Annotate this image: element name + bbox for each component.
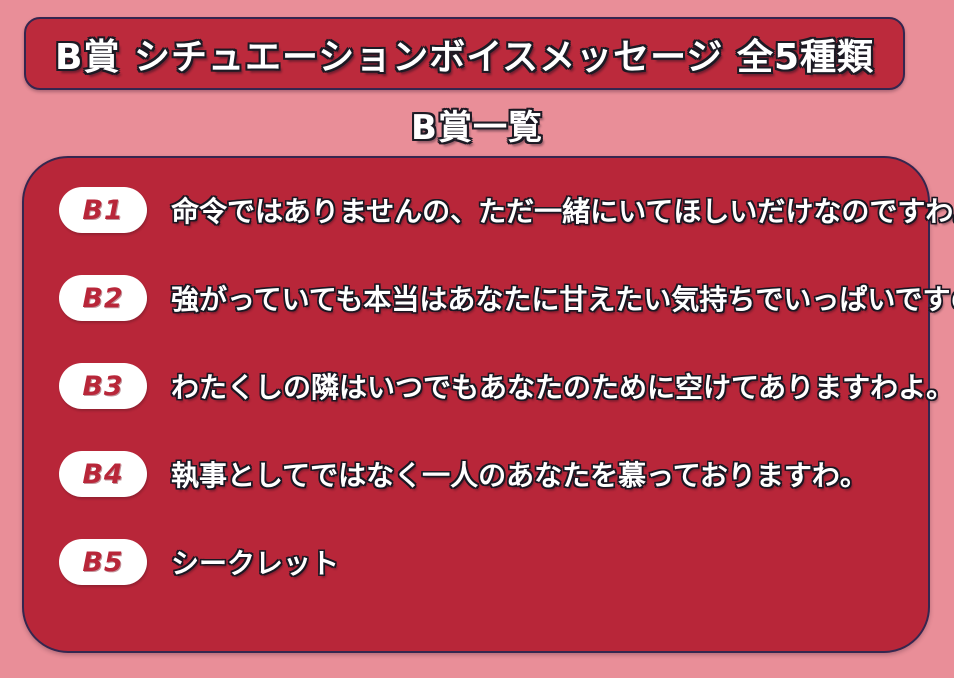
prize-badge-label: B4 [82,459,123,490]
prize-badge: B1 [59,187,147,233]
header-title: B賞 シチュエーションボイスメッセージ 全5種類 [55,28,874,80]
prize-row: B1 命令ではありませんの、ただ一緒にいてほしいだけなのですわ。 [59,186,906,234]
subtitle-text: B賞一覧 [411,100,543,149]
prize-message: シークレット [171,542,906,582]
prize-list-panel: B1 命令ではありませんの、ただ一緒にいてほしいだけなのですわ。 B2 強がって… [22,156,930,653]
prize-list-poster: B賞 シチュエーションボイスメッセージ 全5種類 B賞一覧 B1 命令ではありま… [0,0,954,678]
prize-row: B3 わたくしの隣はいつでもあなたのために空けてありますわよ。 [59,362,906,410]
prize-message: わたくしの隣はいつでもあなたのために空けてありますわよ。 [171,366,954,406]
prize-row: B5 シークレット [59,538,906,586]
prize-badge-label: B2 [82,283,123,314]
prize-message: 執事としてではなく一人のあなたを慕っておりますわ。 [171,454,906,494]
prize-message: 命令ではありませんの、ただ一緒にいてほしいだけなのですわ。 [171,190,954,230]
prize-message: 強がっていても本当はあなたに甘えたい気持ちでいっぱいですの。 [171,278,954,318]
header-banner: B賞 シチュエーションボイスメッセージ 全5種類 [24,17,905,90]
prize-badge-label: B3 [82,371,123,402]
subtitle-container: B賞一覧 [0,100,954,148]
prize-row: B2 強がっていても本当はあなたに甘えたい気持ちでいっぱいですの。 [59,274,906,322]
prize-badge-label: B1 [82,195,123,226]
prize-badge: B2 [59,275,147,321]
prize-badge: B5 [59,539,147,585]
prize-badge: B4 [59,451,147,497]
prize-row: B4 執事としてではなく一人のあなたを慕っておりますわ。 [59,450,906,498]
prize-badge: B3 [59,363,147,409]
prize-rows: B1 命令ではありませんの、ただ一緒にいてほしいだけなのですわ。 B2 強がって… [24,158,928,651]
prize-badge-label: B5 [82,547,123,578]
